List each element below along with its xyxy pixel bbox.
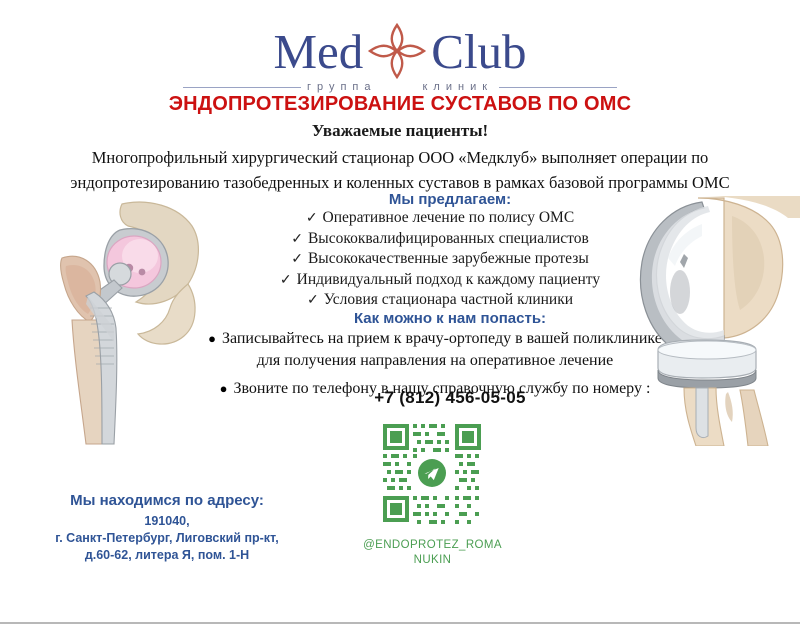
- address-line-2: г. Санкт-Петербург, Лиговский пр-кт,: [22, 530, 312, 547]
- intro-line-1: Многопрофильный хирургический стационар …: [60, 145, 740, 170]
- logo-rule-right: [499, 87, 617, 88]
- reach-item-line-1: Записывайтесь на прием к врачу-ортопеду …: [222, 330, 662, 347]
- logo-word-club: Club: [431, 27, 526, 76]
- qr-caption-line-2: NUKIN: [355, 553, 510, 568]
- offer-heading: Мы предлагаем:: [240, 191, 660, 208]
- reach-item-line-2: для получения направления на оперативное…: [200, 350, 670, 372]
- logo-subtitle: группа клиник: [0, 81, 800, 93]
- list-item: ✓Условия стационара частной клиники: [215, 290, 665, 311]
- logo-rule-left: [183, 87, 301, 88]
- address-block: Мы находимся по адресу: 191040, г. Санкт…: [22, 492, 312, 564]
- offer-item-label: Условия стационара частной клиники: [324, 291, 573, 308]
- check-icon: ✓: [291, 252, 308, 267]
- address-line-3: д.60-62, литера Я, пом. 1-Н: [22, 547, 312, 564]
- list-item: ●Записывайтесь на прием к врачу-ортопеду…: [200, 328, 670, 372]
- logo-word-med: Med: [273, 27, 363, 76]
- brand-logo: Med Club группа клиник: [0, 22, 800, 93]
- four-petal-cross-icon: [367, 22, 427, 80]
- list-item: ✓Индивидуальный подход к каждому пациент…: [215, 270, 665, 291]
- logo-subtitle-right: клиник: [417, 81, 500, 93]
- logo-subtitle-left: группа: [301, 81, 383, 93]
- check-icon: ✓: [307, 293, 324, 308]
- knee-replacement-illustration: [628, 196, 800, 446]
- intro-paragraph: Многопрофильный хирургический стационар …: [60, 145, 740, 195]
- qr-caption-line-1: @ENDOPROTEZ_ROMA: [355, 538, 510, 553]
- address-line-1: 191040,: [22, 513, 312, 530]
- phone-number[interactable]: +7 (812) 456-05-05: [240, 388, 660, 408]
- qr-caption: @ENDOPROTEZ_ROMA NUKIN: [355, 538, 510, 568]
- bullet-icon: ●: [208, 331, 222, 346]
- check-icon: ✓: [291, 232, 308, 247]
- offer-list: ✓Оперативное лечение по полису ОМС ✓Высо…: [215, 208, 665, 311]
- page-title: ЭНДОПРОТЕЗИРОВАНИЕ СУСТАВОВ ПО ОМС: [0, 93, 800, 116]
- offer-item-label: Индивидуальный подход к каждому пациенту: [297, 271, 600, 288]
- check-icon: ✓: [280, 273, 297, 288]
- list-item: ✓Оперативное лечение по полису ОМС: [215, 208, 665, 229]
- reach-heading: Как можно к нам попасть:: [240, 310, 660, 327]
- offer-item-label: Оперативное лечение по полису ОМС: [323, 209, 575, 226]
- qr-code-telegram-icon[interactable]: [377, 418, 487, 528]
- greeting-text: Уважаемые пациенты!: [0, 121, 800, 141]
- bullet-icon: ●: [220, 381, 234, 396]
- offer-item-label: Высококачественные зарубежные протезы: [308, 250, 589, 267]
- check-icon: ✓: [306, 211, 323, 226]
- logo-row: Med Club: [273, 22, 526, 80]
- hip-replacement-illustration: [2, 196, 202, 446]
- poster-canvas: Med Club группа клиник: [0, 0, 800, 624]
- list-item: ✓Высококвалифицированных специалистов: [215, 229, 665, 250]
- list-item: ✓Высококачественные зарубежные протезы: [215, 249, 665, 270]
- offer-item-label: Высококвалифицированных специалистов: [308, 230, 589, 247]
- address-heading: Мы находимся по адресу:: [22, 492, 312, 509]
